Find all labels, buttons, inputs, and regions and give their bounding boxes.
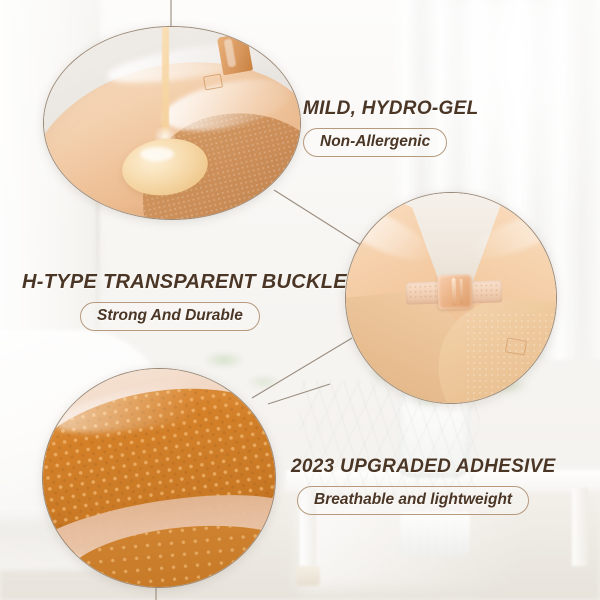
gel-cup-pull-tab	[217, 33, 253, 76]
feature-headline-adhesive: 2023 UPGRADED ADHESIVE	[291, 456, 556, 478]
feature-pill-gel: Non-Allergenic	[303, 128, 447, 157]
h-type-buckle-clasp	[405, 273, 502, 310]
adhesive-surface-photo	[42, 368, 276, 588]
hydro-gel-pour-photo	[43, 26, 301, 220]
h-type-buckle-photo	[345, 192, 557, 404]
feature-pill-buckle: Strong And Durable	[80, 302, 260, 331]
feature-headline-buckle: H-TYPE TRANSPARENT BUCKLE	[22, 271, 347, 294]
buckle-cup-dot-texture	[466, 313, 557, 404]
connector-line-adhesive-to-label	[268, 384, 330, 404]
feature-pill-adhesive: Breathable and lightweight	[297, 486, 529, 515]
feature-label-gel: MILD, HYDRO-GEL Non-Allergenic	[303, 98, 479, 157]
buckle-cup-logo-emboss	[505, 337, 527, 355]
feature-label-buckle: H-TYPE TRANSPARENT BUCKLE Strong And Dur…	[22, 271, 347, 331]
feature-headline-gel: MILD, HYDRO-GEL	[303, 98, 479, 120]
gel-pool-highlight	[140, 147, 174, 161]
product-feature-image: MILD, HYDRO-GEL Non-Allergenic H-TYPE TR…	[0, 0, 600, 600]
feature-label-adhesive: 2023 UPGRADED ADHESIVE Breathable and li…	[291, 456, 556, 515]
